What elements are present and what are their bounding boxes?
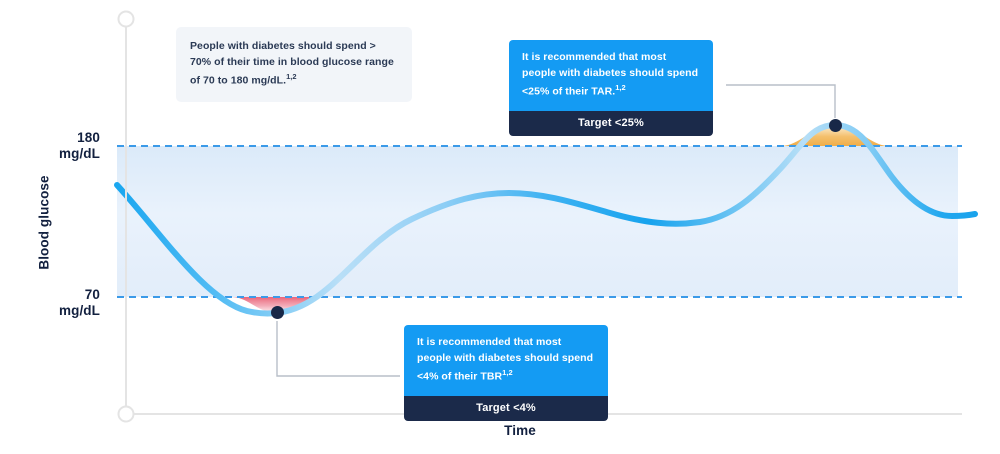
y-axis-tick-180: 180 mg/dL	[18, 130, 100, 163]
time-in-range-note-superscript: 1,2	[286, 72, 297, 81]
hypoglycemia-nadir-marker	[271, 306, 284, 319]
above-range-callout-superscript: 1,2	[615, 83, 626, 92]
above-range-target-badge: Target <25%	[509, 111, 713, 136]
time-in-range-band	[117, 146, 958, 297]
glucose-curve	[117, 125, 975, 313]
above-range-callout-body: It is recommended that most people with …	[509, 40, 713, 111]
origin-cap-icon	[119, 407, 134, 422]
y-axis-tick-70: 70 mg/dL	[18, 287, 100, 320]
y-axis-tick-70-value: 70	[18, 287, 100, 303]
y-axis-title: Blood glucose	[37, 153, 52, 293]
y-axis-tick-180-unit: mg/dL	[18, 146, 100, 162]
below-range-target-badge: Target <4%	[404, 396, 608, 421]
above-range-callout-text: It is recommended that most people with …	[522, 51, 698, 97]
above-range-callout: It is recommended that most people with …	[509, 40, 713, 136]
y-axis-end-cap-icon	[119, 12, 134, 27]
y-axis-tick-70-unit: mg/dL	[18, 303, 100, 319]
time-in-range-note: People with diabetes should spend > 70% …	[176, 27, 412, 102]
y-axis-tick-180-value: 180	[18, 130, 100, 146]
blood-glucose-chart-figure: 180 mg/dL 70 mg/dL Blood glucose Time Pe…	[0, 0, 1000, 454]
above-range-connector	[726, 85, 835, 118]
below-range-callout: It is recommended that most people with …	[404, 325, 608, 421]
below-range-callout-body: It is recommended that most people with …	[404, 325, 608, 396]
below-range-connector	[277, 321, 400, 376]
x-axis-title: Time	[430, 423, 610, 438]
below-range-callout-superscript: 1,2	[502, 368, 513, 377]
hyperglycemia-peak-marker	[829, 119, 842, 132]
